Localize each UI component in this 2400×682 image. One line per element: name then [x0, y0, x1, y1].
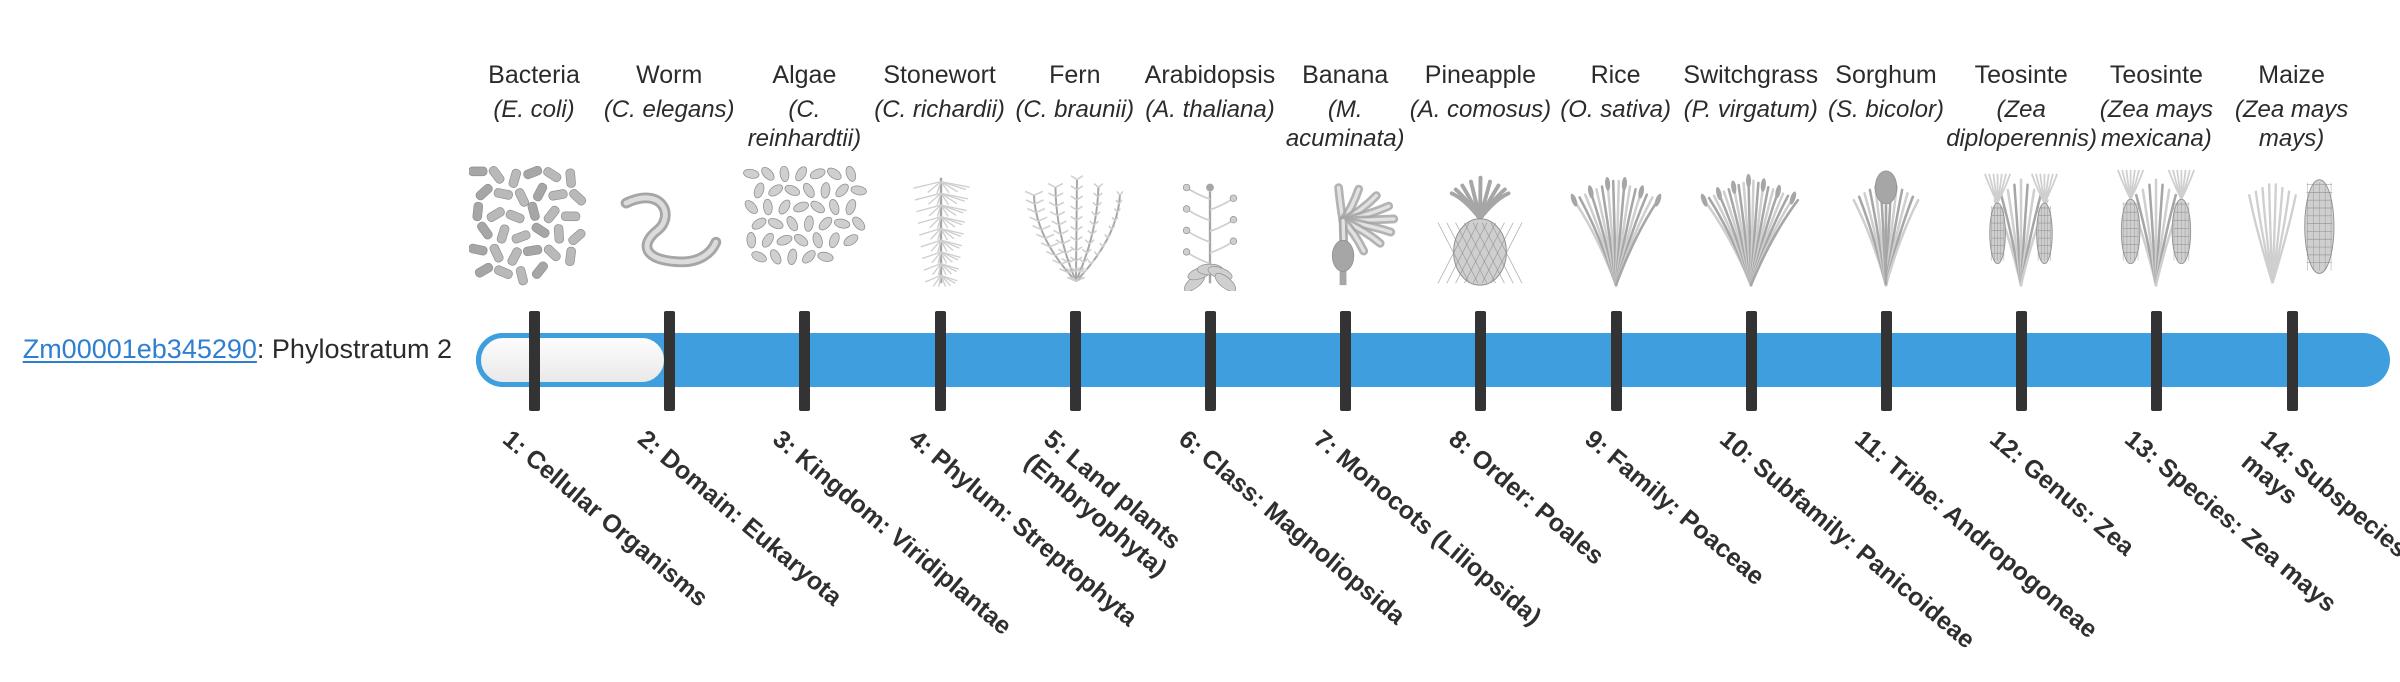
species-scientific-name: (C. richardii): [865, 95, 1015, 124]
stratum-number: 13:: [2120, 425, 2166, 470]
species-common-name: Banana: [1270, 60, 1420, 90]
stratum-tick-11[interactable]: [1881, 311, 1892, 411]
stratum-label-10[interactable]: 10: Subfamily: Panicoideae: [1714, 424, 1986, 659]
stratum-label-8[interactable]: 8: Order: Poales: [1443, 424, 1715, 659]
gene-phylostratum-label: Zm00001eb345290: Phylostratum 2: [0, 332, 452, 366]
stratum-rank-label: Subfamily: Panicoideae: [1747, 452, 1980, 654]
species-common-name: Rice: [1541, 60, 1691, 90]
species-common-name: Teosinte: [2081, 60, 2231, 90]
species-common-name: Sorghum: [1811, 60, 1961, 90]
stratum-tick-12[interactable]: [2016, 311, 2027, 411]
species-common-name: Stonewort: [865, 60, 1015, 90]
species-common-name: Worm: [594, 60, 744, 90]
species-common-name: Fern: [1000, 60, 1150, 90]
species-column-4: Stonewort(C. richardii): [865, 60, 1015, 124]
stratum-number: 10:: [1714, 425, 1760, 470]
stratum-tick-5[interactable]: [1070, 311, 1081, 411]
maize-icon: [2227, 166, 2357, 291]
stratum-label-1[interactable]: 1: Cellular Organisms: [497, 424, 769, 659]
species-scientific-name: (E. coli): [459, 95, 609, 124]
stratum-number: 12:: [1985, 425, 2031, 470]
stratum-tick-1[interactable]: [529, 311, 540, 411]
species-scientific-name: (Zea mays mexicana): [2081, 95, 2231, 153]
stratum-tick-9[interactable]: [1611, 311, 1622, 411]
stratum-label-2[interactable]: 2: Domain: Eukaryota: [632, 424, 904, 659]
rice-icon: [1551, 166, 1681, 291]
stratum-label-12[interactable]: 12: Genus: Zea: [1984, 424, 2256, 659]
stratum-rank-label: Kingdom: Viridiplantae: [790, 444, 1017, 641]
stratum-tick-8[interactable]: [1475, 311, 1486, 411]
species-scientific-name: (A. comosus): [1405, 95, 1555, 124]
gene-id-link[interactable]: Zm00001eb345290: [23, 334, 257, 364]
stratum-tick-14[interactable]: [2287, 311, 2298, 411]
stratum-rank-label: Genus: Zea: [2018, 452, 2140, 561]
stratum-tick-10[interactable]: [1746, 311, 1757, 411]
species-column-1: Bacteria(E. coli): [459, 60, 609, 124]
species-column-13: Teosinte(Zea mays mexicana): [2081, 60, 2231, 153]
species-column-14: Maize(Zea mays mays): [2217, 60, 2367, 153]
phylostratum-bar-track[interactable]: [476, 333, 2390, 387]
teosinte-mex-icon: [2091, 166, 2221, 291]
arabidopsis-icon: [1145, 166, 1275, 291]
stratum-rank-label: Order: Poales: [1466, 444, 1610, 571]
stonewort-icon: [875, 166, 1005, 291]
stratum-tick-3[interactable]: [799, 311, 810, 411]
stratum-tick-7[interactable]: [1340, 311, 1351, 411]
phylostratum-bar-unfilled-segment: [476, 333, 669, 387]
species-column-7: Banana(M. acuminata): [1270, 60, 1420, 153]
stratum-label-3[interactable]: 3: Kingdom: Viridiplantae: [767, 424, 1039, 659]
species-scientific-name: (S. bicolor): [1811, 95, 1961, 124]
species-column-10: Switchgrass(P. virgatum): [1676, 60, 1826, 124]
species-column-5: Fern(C. braunii): [1000, 60, 1150, 124]
species-column-3: Algae(C. reinhardtii): [729, 60, 879, 153]
stratum-label-7[interactable]: 7: Monocots (Liliopsida): [1308, 424, 1580, 659]
stratum-label-11[interactable]: 11: Tribe: Andropogoneae: [1849, 424, 2121, 659]
stratum-number: 11:: [1849, 425, 1894, 469]
switchgrass-icon: [1686, 166, 1816, 291]
banana-icon: [1280, 166, 1410, 291]
species-common-name: Teosinte: [1946, 60, 2096, 90]
species-common-name: Bacteria: [459, 60, 609, 90]
species-column-6: Arabidopsis(A. thaliana): [1135, 60, 1285, 124]
species-common-name: Maize: [2217, 60, 2367, 90]
species-common-name: Algae: [729, 60, 879, 90]
gene-label-separator: :: [257, 334, 272, 364]
species-common-name: Pineapple: [1405, 60, 1555, 90]
phylostratum-value: Phylostratum 2: [272, 334, 452, 364]
fern-icon: [1010, 166, 1140, 291]
stratum-label-9[interactable]: 9: Family: Poaceae: [1578, 424, 1850, 659]
species-scientific-name: (C. braunii): [1000, 95, 1150, 124]
species-scientific-name: (Zea diploperennis): [1946, 95, 2096, 153]
algae-icon: [739, 166, 869, 291]
worm-icon: [604, 166, 734, 291]
species-common-name: Switchgrass: [1676, 60, 1826, 90]
species-column-12: Teosinte(Zea diploperennis): [1946, 60, 2096, 153]
pineapple-icon: [1415, 166, 1545, 291]
species-common-name: Arabidopsis: [1135, 60, 1285, 90]
species-column-2: Worm(C. elegans): [594, 60, 744, 124]
species-scientific-name: (P. virgatum): [1676, 95, 1826, 124]
stratum-tick-2[interactable]: [664, 311, 675, 411]
species-scientific-name: (O. sativa): [1541, 95, 1691, 124]
species-scientific-name: (C. elegans): [594, 95, 744, 124]
stratum-tick-13[interactable]: [2151, 311, 2162, 411]
bacteria-icon: [469, 166, 599, 291]
species-column-11: Sorghum(S. bicolor): [1811, 60, 1961, 124]
sorghum-icon: [1821, 166, 1951, 291]
species-scientific-name: (C. reinhardtii): [729, 95, 879, 153]
species-scientific-name: (A. thaliana): [1135, 95, 1285, 124]
phylostratigraphy-timeline: Zm00001eb345290: Phylostratum 2 Bacteria…: [0, 0, 2400, 580]
teosinte-diplo-icon: [1956, 166, 2086, 291]
species-scientific-name: (M. acuminata): [1270, 95, 1420, 153]
species-scientific-name: (Zea mays mays): [2217, 95, 2367, 153]
species-column-9: Rice(O. sativa): [1541, 60, 1691, 124]
species-column-8: Pineapple(A. comosus): [1405, 60, 1555, 124]
stratum-tick-4[interactable]: [935, 311, 946, 411]
stratum-tick-6[interactable]: [1205, 311, 1216, 411]
